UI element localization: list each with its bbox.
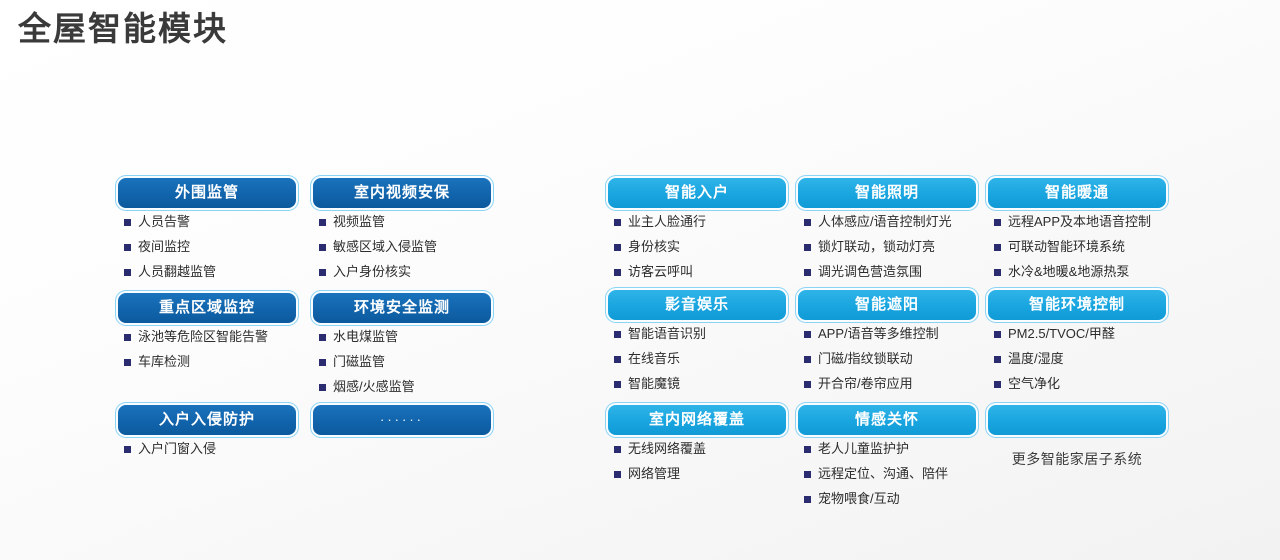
list-item-label: 远程定位、沟通、陪伴 xyxy=(818,466,948,482)
list-item-label: 空气净化 xyxy=(1008,376,1060,392)
list-item-label: 车库检测 xyxy=(138,354,190,370)
square-bullet-icon xyxy=(319,244,326,251)
list-item: 门磁/指纹锁联动 xyxy=(798,351,976,367)
list-item-label: 视频监管 xyxy=(333,214,385,230)
list-item: 水冷&地暖&地源热泵 xyxy=(988,264,1166,280)
list-item: 夜间监控 xyxy=(118,239,296,255)
list-item-label: 门磁监管 xyxy=(333,354,385,370)
list-item-label: 入户身份核实 xyxy=(333,264,411,280)
square-bullet-icon xyxy=(124,334,131,341)
square-bullet-icon xyxy=(124,269,131,276)
list-item-label: 水电煤监管 xyxy=(333,329,398,345)
list-item: 宠物喂食/互动 xyxy=(798,491,976,507)
module-columns: 外围监管人员告警夜间监控人员翻越监管重点区域监控泳池等危险区智能告警车库检测入户… xyxy=(0,165,1280,560)
slide-root: 全屋智能模块 外围监管人员告警夜间监控人员翻越监管重点区域监控泳池等危险区智能告… xyxy=(0,0,1280,560)
group-intrusion-protection: 入户入侵防护入户门窗入侵 xyxy=(118,405,296,466)
group-smart-lighting: 智能照明人体感应/语音控制灯光锁灯联动，锁动灯亮调光调色营造氛围 xyxy=(798,178,976,289)
group-environment-safety: 环境安全监测水电煤监管门磁监管烟感/火感监管 xyxy=(313,293,491,404)
square-bullet-icon xyxy=(319,219,326,226)
group-emotional-care-header[interactable]: 情感关怀 xyxy=(798,405,976,435)
group-emotional-care: 情感关怀老人儿童监护护远程定位、沟通、陪伴宠物喂食/互动 xyxy=(798,405,976,516)
list-item-label: 业主人脸通行 xyxy=(628,214,706,230)
square-bullet-icon xyxy=(994,356,1001,363)
group-more-subsystems-header[interactable] xyxy=(988,405,1166,435)
list-item: 烟感/火感监管 xyxy=(313,379,491,395)
list-item-label: 温度/湿度 xyxy=(1008,351,1064,367)
group-indoor-network-header[interactable]: 室内网络覆盖 xyxy=(608,405,786,435)
group-av-entertainment-list: 智能语音识别在线音乐智能魔镜 xyxy=(608,326,786,392)
list-item: 空气净化 xyxy=(988,376,1166,392)
title-area: 全屋智能模块 xyxy=(18,8,228,51)
list-item: 可联动智能环境系统 xyxy=(988,239,1166,255)
list-item: 门磁监管 xyxy=(313,354,491,370)
list-item-label: 水冷&地暖&地源热泵 xyxy=(1008,264,1129,280)
list-item: 开合帘/卷帘应用 xyxy=(798,376,976,392)
list-item: 入户门窗入侵 xyxy=(118,441,296,457)
list-item: 温度/湿度 xyxy=(988,351,1166,367)
square-bullet-icon xyxy=(319,334,326,341)
group-emotional-care-list: 老人儿童监护护远程定位、沟通、陪伴宠物喂食/互动 xyxy=(798,441,976,507)
group-environment-safety-header[interactable]: 环境安全监测 xyxy=(313,293,491,323)
square-bullet-icon xyxy=(614,446,621,453)
square-bullet-icon xyxy=(994,244,1001,251)
square-bullet-icon xyxy=(804,446,811,453)
group-indoor-network-list: 无线网络覆盖网络管理 xyxy=(608,441,786,482)
list-item-label: 远程APP及本地语音控制 xyxy=(1008,214,1151,230)
group-indoor-video-security-list: 视频监管敏感区域入侵监管入户身份核实 xyxy=(313,214,491,280)
list-item-label: 在线音乐 xyxy=(628,351,680,367)
group-smart-entry-list: 业主人脸通行身份核实访客云呼叫 xyxy=(608,214,786,280)
group-smart-hvac-header[interactable]: 智能暖通 xyxy=(988,178,1166,208)
group-more-subsystems-caption: 更多智能家居子系统 xyxy=(988,449,1166,469)
square-bullet-icon xyxy=(804,219,811,226)
square-bullet-icon xyxy=(614,219,621,226)
list-item: 智能魔镜 xyxy=(608,376,786,392)
list-item-label: 门磁/指纹锁联动 xyxy=(818,351,913,367)
list-item: 无线网络覆盖 xyxy=(608,441,786,457)
list-item: 敏感区域入侵监管 xyxy=(313,239,491,255)
list-item: 水电煤监管 xyxy=(313,329,491,345)
group-smart-lighting-list: 人体感应/语音控制灯光锁灯联动，锁动灯亮调光调色营造氛围 xyxy=(798,214,976,280)
square-bullet-icon xyxy=(804,496,811,503)
square-bullet-icon xyxy=(804,381,811,388)
square-bullet-icon xyxy=(994,269,1001,276)
list-item-label: 锁灯联动，锁动灯亮 xyxy=(818,239,935,255)
square-bullet-icon xyxy=(994,331,1001,338)
square-bullet-icon xyxy=(804,356,811,363)
group-perimeter-supervision: 外围监管人员告警夜间监控人员翻越监管 xyxy=(118,178,296,289)
group-smart-shading: 智能遮阳APP/语音等多维控制门磁/指纹锁联动开合帘/卷帘应用 xyxy=(798,290,976,401)
list-item-label: 网络管理 xyxy=(628,466,680,482)
group-smart-environment-control: 智能环境控制PM2.5/TVOC/甲醛温度/湿度空气净化 xyxy=(988,290,1166,401)
square-bullet-icon xyxy=(319,269,326,276)
list-item-label: 泳池等危险区智能告警 xyxy=(138,329,268,345)
square-bullet-icon xyxy=(614,471,621,478)
square-bullet-icon xyxy=(804,331,811,338)
group-indoor-network: 室内网络覆盖无线网络覆盖网络管理 xyxy=(608,405,786,491)
list-item-label: 无线网络覆盖 xyxy=(628,441,706,457)
group-av-entertainment-header[interactable]: 影音娱乐 xyxy=(608,290,786,320)
group-indoor-video-security: 室内视频安保视频监管敏感区域入侵监管入户身份核实 xyxy=(313,178,491,289)
group-intrusion-protection-header[interactable]: 入户入侵防护 xyxy=(118,405,296,435)
list-item-label: 敏感区域入侵监管 xyxy=(333,239,437,255)
list-item: 智能语音识别 xyxy=(608,326,786,342)
square-bullet-icon xyxy=(319,384,326,391)
list-item-label: 人体感应/语音控制灯光 xyxy=(818,214,952,230)
list-item: 人员告警 xyxy=(118,214,296,230)
list-item: 身份核实 xyxy=(608,239,786,255)
list-item-label: 可联动智能环境系统 xyxy=(1008,239,1125,255)
square-bullet-icon xyxy=(614,331,621,338)
list-item-label: 入户门窗入侵 xyxy=(138,441,216,457)
square-bullet-icon xyxy=(614,269,621,276)
group-key-area-monitoring-list: 泳池等危险区智能告警车库检测 xyxy=(118,329,296,370)
group-indoor-video-security-header[interactable]: 室内视频安保 xyxy=(313,178,491,208)
square-bullet-icon xyxy=(614,244,621,251)
list-item-label: 宠物喂食/互动 xyxy=(818,491,900,507)
list-item: 人员翻越监管 xyxy=(118,264,296,280)
list-item-label: 智能魔镜 xyxy=(628,376,680,392)
list-item-label: 身份核实 xyxy=(628,239,680,255)
square-bullet-icon xyxy=(614,381,621,388)
list-item-label: 夜间监控 xyxy=(138,239,190,255)
list-item-label: 人员告警 xyxy=(138,214,190,230)
list-item-label: 老人儿童监护护 xyxy=(818,441,909,457)
list-item: 业主人脸通行 xyxy=(608,214,786,230)
group-more-security: ······ xyxy=(313,405,491,435)
group-smart-hvac-list: 远程APP及本地语音控制可联动智能环境系统水冷&地暖&地源热泵 xyxy=(988,214,1166,280)
group-smart-shading-list: APP/语音等多维控制门磁/指纹锁联动开合帘/卷帘应用 xyxy=(798,326,976,392)
group-smart-hvac: 智能暖通远程APP及本地语音控制可联动智能环境系统水冷&地暖&地源热泵 xyxy=(988,178,1166,289)
list-item: 远程APP及本地语音控制 xyxy=(988,214,1166,230)
list-item: 调光调色营造氛围 xyxy=(798,264,976,280)
square-bullet-icon xyxy=(994,219,1001,226)
list-item: 远程定位、沟通、陪伴 xyxy=(798,466,976,482)
group-smart-environment-control-header[interactable]: 智能环境控制 xyxy=(988,290,1166,320)
group-perimeter-supervision-list: 人员告警夜间监控人员翻越监管 xyxy=(118,214,296,280)
list-item: 锁灯联动，锁动灯亮 xyxy=(798,239,976,255)
square-bullet-icon xyxy=(614,356,621,363)
page-title: 全屋智能模块 xyxy=(18,8,228,51)
square-bullet-icon xyxy=(804,244,811,251)
list-item: 老人儿童监护护 xyxy=(798,441,976,457)
group-smart-entry-header[interactable]: 智能入户 xyxy=(608,178,786,208)
list-item: 访客云呼叫 xyxy=(608,264,786,280)
list-item-label: 智能语音识别 xyxy=(628,326,706,342)
square-bullet-icon xyxy=(124,359,131,366)
square-bullet-icon xyxy=(124,244,131,251)
group-more-security-header[interactable]: ······ xyxy=(313,405,491,435)
group-key-area-monitoring: 重点区域监控泳池等危险区智能告警车库检测 xyxy=(118,293,296,379)
group-intrusion-protection-list: 入户门窗入侵 xyxy=(118,441,296,457)
group-perimeter-supervision-header[interactable]: 外围监管 xyxy=(118,178,296,208)
group-smart-environment-control-list: PM2.5/TVOC/甲醛温度/湿度空气净化 xyxy=(988,326,1166,392)
list-item-label: 开合帘/卷帘应用 xyxy=(818,376,913,392)
list-item: 人体感应/语音控制灯光 xyxy=(798,214,976,230)
square-bullet-icon xyxy=(319,359,326,366)
list-item-label: PM2.5/TVOC/甲醛 xyxy=(1008,326,1115,342)
square-bullet-icon xyxy=(124,219,131,226)
square-bullet-icon xyxy=(804,471,811,478)
group-smart-shading-header[interactable]: 智能遮阳 xyxy=(798,290,976,320)
list-item: 在线音乐 xyxy=(608,351,786,367)
list-item: 入户身份核实 xyxy=(313,264,491,280)
list-item-label: 烟感/火感监管 xyxy=(333,379,415,395)
square-bullet-icon xyxy=(994,381,1001,388)
square-bullet-icon xyxy=(804,269,811,276)
list-item-label: 调光调色营造氛围 xyxy=(818,264,922,280)
list-item-label: APP/语音等多维控制 xyxy=(818,326,939,342)
list-item-label: 人员翻越监管 xyxy=(138,264,216,280)
list-item: 车库检测 xyxy=(118,354,296,370)
list-item: 视频监管 xyxy=(313,214,491,230)
list-item: APP/语音等多维控制 xyxy=(798,326,976,342)
group-environment-safety-list: 水电煤监管门磁监管烟感/火感监管 xyxy=(313,329,491,395)
square-bullet-icon xyxy=(124,446,131,453)
group-more-subsystems: 更多智能家居子系统 xyxy=(988,405,1166,469)
list-item: PM2.5/TVOC/甲醛 xyxy=(988,326,1166,342)
group-av-entertainment: 影音娱乐智能语音识别在线音乐智能魔镜 xyxy=(608,290,786,401)
list-item-label: 访客云呼叫 xyxy=(628,264,693,280)
list-item: 泳池等危险区智能告警 xyxy=(118,329,296,345)
group-key-area-monitoring-header[interactable]: 重点区域监控 xyxy=(118,293,296,323)
group-smart-entry: 智能入户业主人脸通行身份核实访客云呼叫 xyxy=(608,178,786,289)
group-smart-lighting-header[interactable]: 智能照明 xyxy=(798,178,976,208)
list-item: 网络管理 xyxy=(608,466,786,482)
